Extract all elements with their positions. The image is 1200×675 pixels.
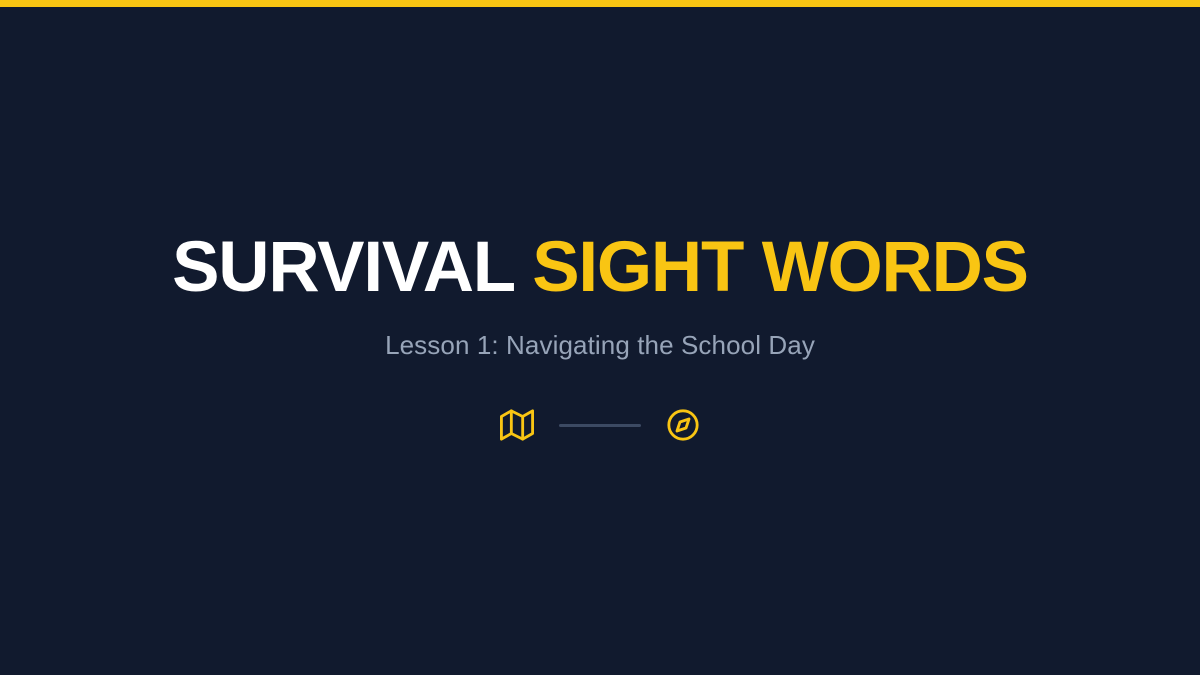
title-part-accent: SIGHT WORDS	[532, 228, 1028, 307]
title-slide: SURVIVAL SIGHT WORDS Lesson 1: Navigatin…	[0, 0, 1200, 675]
icon-row	[499, 407, 701, 443]
lesson-subtitle: Lesson 1: Navigating the School Day	[385, 330, 815, 361]
map-icon	[499, 407, 535, 443]
page-title: SURVIVAL SIGHT WORDS	[172, 232, 1028, 304]
compass-icon	[665, 407, 701, 443]
title-part-primary: SURVIVAL	[172, 228, 532, 307]
slide-content: SURVIVAL SIGHT WORDS Lesson 1: Navigatin…	[0, 0, 1200, 675]
icon-divider	[559, 424, 641, 427]
